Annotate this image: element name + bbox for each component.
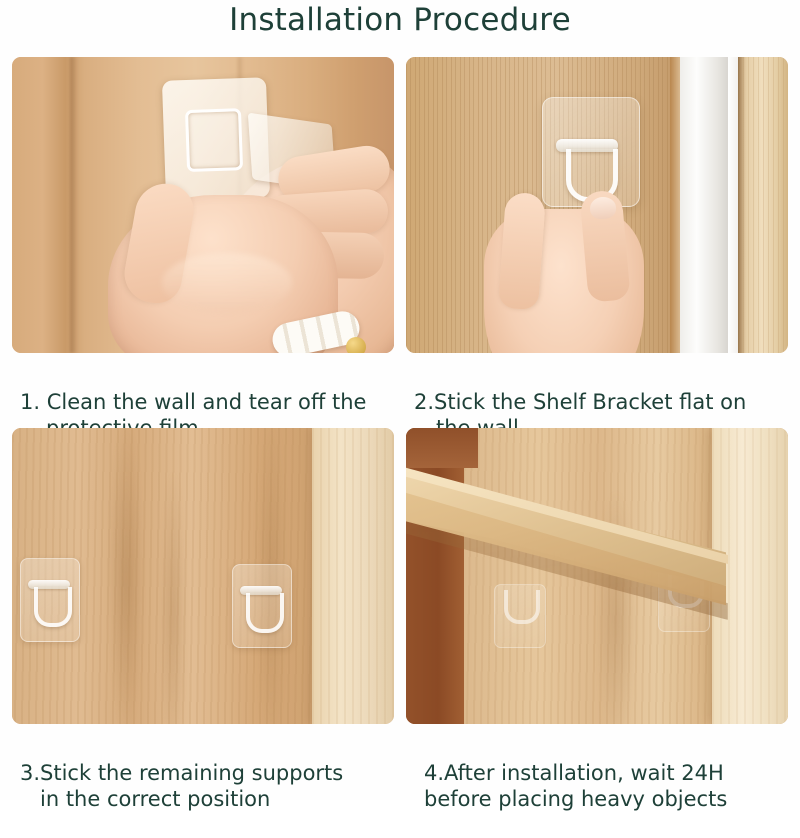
steps-grid: 1. Clean the wall and tear off the prote… xyxy=(12,57,788,797)
bracelet-gold-bead xyxy=(346,337,366,353)
white-trim-strip xyxy=(680,57,728,353)
step-item-1: 1. Clean the wall and tear off the prote… xyxy=(12,57,394,467)
step-3-caption-line2: in the correct position xyxy=(20,786,392,812)
wood-grain-streak xyxy=(108,428,144,724)
dark-back-panel-top xyxy=(406,428,478,468)
wood-post-shadow xyxy=(738,57,745,353)
step-3-photo xyxy=(12,428,394,724)
wall-gap xyxy=(728,57,738,353)
step-1-caption-line1: 1. Clean the wall and tear off the xyxy=(20,390,366,414)
step-2-photo xyxy=(406,57,788,353)
hook-loop xyxy=(246,593,284,633)
step-4-caption: 4.After installation, wait 24H before pl… xyxy=(406,734,788,838)
hand-finger-index xyxy=(498,192,546,311)
side-wood-panel xyxy=(312,428,394,724)
step-item-4: 4.After installation, wait 24H before pl… xyxy=(406,428,788,838)
hook-loop xyxy=(34,587,72,627)
step-4-photo xyxy=(406,428,788,724)
step-1-photo xyxy=(12,57,394,353)
page-title: Installation Procedure xyxy=(0,2,800,38)
wood-grain-streak xyxy=(160,468,186,724)
step-4-caption-line2: before placing heavy objects xyxy=(424,786,786,812)
left-hand-knuckles xyxy=(162,253,292,313)
hook-loop xyxy=(504,590,540,624)
step-4-caption-line1: 4.After installation, wait 24H xyxy=(424,761,724,785)
step-2-caption-line1: 2.Stick the Shelf Bracket flat on xyxy=(414,390,746,414)
step-item-3: 3.Stick the remaining supports in the co… xyxy=(12,428,394,838)
step-item-2: 2.Stick the Shelf Bracket flat on the wa… xyxy=(406,57,788,467)
step-3-caption-line1: 3.Stick the remaining supports xyxy=(20,761,343,785)
installation-procedure-graphic: Installation Procedure xyxy=(0,0,800,800)
wall-seam-line xyxy=(70,57,77,353)
step-3-caption: 3.Stick the remaining supports in the co… xyxy=(12,734,394,838)
hook-loop xyxy=(185,108,243,172)
wall-edge xyxy=(670,57,680,353)
wood-post xyxy=(738,57,788,353)
